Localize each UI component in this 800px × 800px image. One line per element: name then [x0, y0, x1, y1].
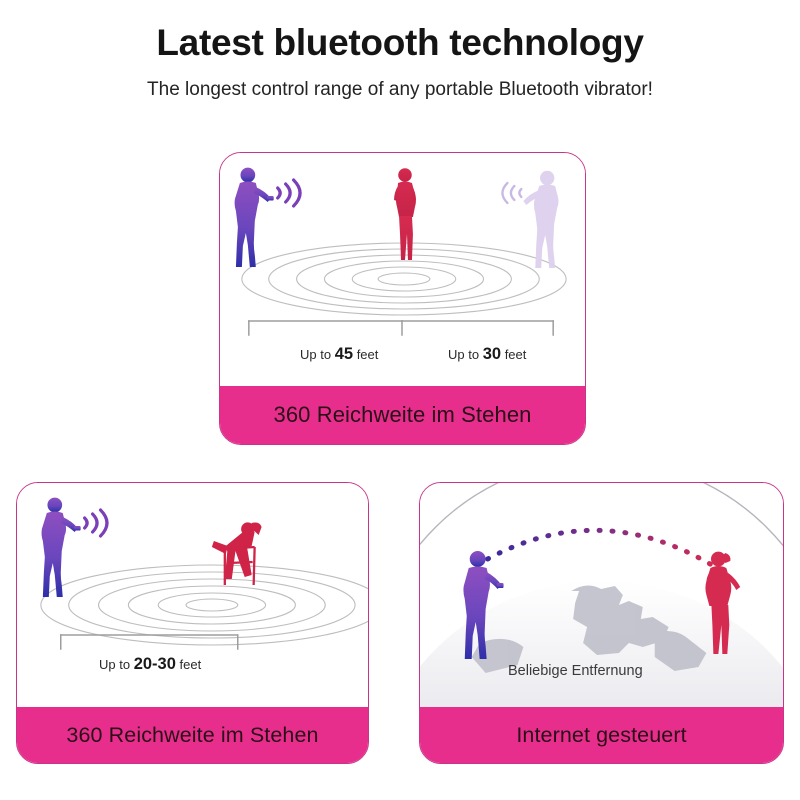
globe-caption: Beliebige Entfernung — [508, 663, 643, 679]
figure-woman-standing — [394, 168, 416, 260]
header: Latest bluetooth technology The longest … — [0, 0, 800, 101]
card-internet-control[interactable]: Beliebige Entfernung Internet gesteuert — [419, 482, 784, 764]
dotted-arc — [488, 530, 719, 569]
card-standing-range[interactable]: Up to 45 feet Up to 30 feet 360 Reichwei… — [219, 152, 586, 445]
measurement-bracket — [249, 321, 553, 335]
distance-label-20-30: Up to 20-30 feet — [99, 655, 201, 674]
card-banner-seated: 360 Reichweite im Stehen — [17, 707, 368, 763]
distance-label-30: Up to 30 feet — [448, 345, 526, 364]
card-banner-standing: 360 Reichweite im Stehen — [220, 386, 585, 444]
signal-waves-small — [502, 183, 521, 203]
page-subtitle: The longest control range of any portabl… — [0, 65, 800, 101]
seated-range-illustration: Up to 20-30 feet — [17, 483, 368, 707]
standing-range-illustration: Up to 45 feet Up to 30 feet — [220, 153, 585, 385]
card-banner-internet: Internet gesteuert — [420, 707, 783, 763]
figure-man-with-remote — [42, 498, 81, 597]
figure-man-faded — [523, 171, 558, 268]
signal-waves-large — [85, 510, 107, 536]
ground-ripples — [41, 565, 368, 645]
internet-control-illustration: Beliebige Entfernung — [420, 483, 783, 707]
page-title: Latest bluetooth technology — [0, 0, 800, 65]
card-seated-range[interactable]: Up to 20-30 feet 360 Reichweite im Stehe… — [16, 482, 369, 764]
standing-range-svg — [220, 153, 585, 385]
signal-waves-large — [278, 180, 300, 206]
distance-label-45: Up to 45 feet — [300, 345, 378, 364]
figure-man-with-remote — [235, 168, 274, 267]
